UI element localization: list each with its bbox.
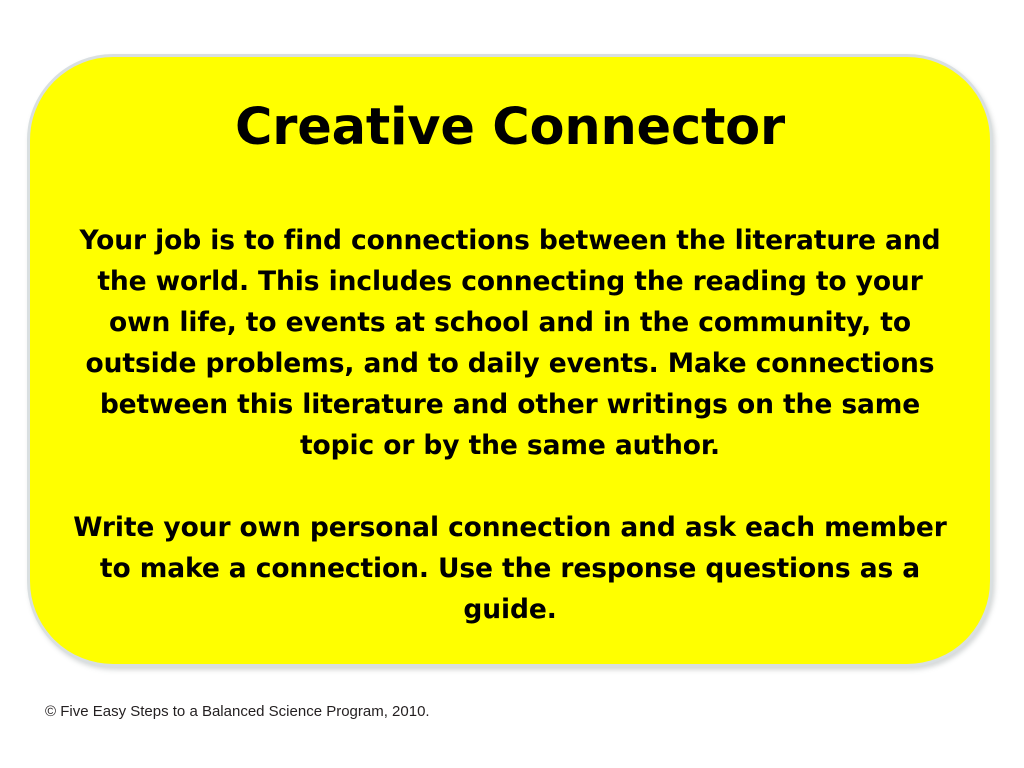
instructions-paragraph-2: Write your own personal connection and a… bbox=[70, 507, 950, 630]
page-title: Creative Connector bbox=[30, 97, 990, 159]
card-body-text: Your job is to find connections between … bbox=[70, 220, 950, 630]
paragraph-spacer bbox=[70, 466, 950, 507]
creative-connector-card: Creative Connector Your job is to find c… bbox=[27, 54, 993, 667]
copyright-credit: © Five Easy Steps to a Balanced Science … bbox=[45, 702, 430, 721]
instructions-paragraph-1: Your job is to find connections between … bbox=[70, 220, 950, 466]
slide-canvas: Creative Connector Your job is to find c… bbox=[0, 0, 1024, 768]
